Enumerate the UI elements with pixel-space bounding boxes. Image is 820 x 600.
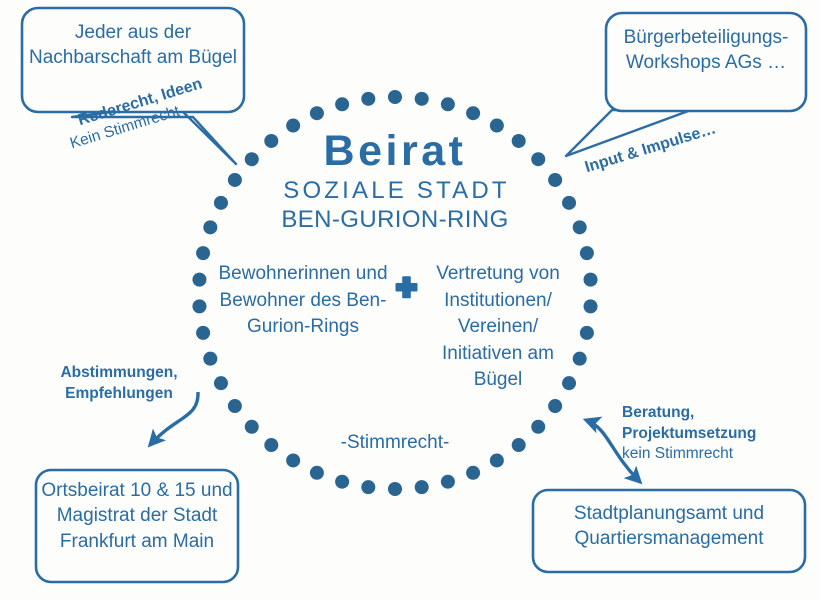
ring-dot xyxy=(214,376,228,390)
ring-dot xyxy=(531,420,545,434)
bubble-top-right-text: Bürgerbeteiligungs- Workshops AGs … xyxy=(610,25,802,76)
ring-dot xyxy=(286,453,300,467)
page-title: Beirat xyxy=(0,125,790,177)
ring-dot xyxy=(245,420,259,434)
label-beratung-line3: kein Stimmrecht xyxy=(622,444,792,465)
label-beratung-line1: Beratung, xyxy=(622,403,792,424)
ring-dot xyxy=(490,453,504,467)
ring-dot xyxy=(361,92,375,106)
ring-dot xyxy=(573,352,587,366)
ring-dot xyxy=(580,246,594,260)
ring-footer-stimmrecht: -Stimmrecht- xyxy=(300,431,490,454)
ring-dot xyxy=(584,299,598,313)
box-bottom-left-text: Ortsbeirat 10 & 15 und Magistrat der Sta… xyxy=(40,478,234,554)
ring-dot xyxy=(310,466,324,480)
ring-dot xyxy=(192,273,206,287)
ring-dot xyxy=(196,246,210,260)
ring-column-institutions: Vertretung von Institutionen/ Vereinen/ … xyxy=(422,261,574,394)
label-beratung-line2: Projektumsetzung xyxy=(622,424,792,445)
subtitle-soziale-stadt: SOZIALE STADT xyxy=(0,176,793,205)
ring-dot xyxy=(192,299,206,313)
ring-dot xyxy=(466,466,480,480)
ring-dot xyxy=(310,106,324,120)
label-abstimmungen-empfehlungen: Abstimmungen, Empfehlungen xyxy=(44,363,194,404)
ring-dot xyxy=(415,480,429,494)
diagram-canvas: Jeder aus der Nachbarschaft am Bügel Red… xyxy=(0,0,820,600)
box-bottom-right-text: Stadtplanungsamt und Quartiersmanagement xyxy=(537,501,801,552)
ring-dot xyxy=(228,399,242,413)
ring-dot xyxy=(584,273,598,287)
plus-icon xyxy=(396,276,418,298)
ring-dot xyxy=(361,480,375,494)
ring-dot xyxy=(196,326,210,340)
ring-dot xyxy=(335,475,349,489)
ring-dot xyxy=(388,90,402,104)
ring-dot xyxy=(548,399,562,413)
subtitle-ben-gurion-ring: BEN-GURION-RING xyxy=(0,205,790,234)
ring-dot xyxy=(335,97,349,111)
ring-dot xyxy=(580,326,594,340)
ring-dot xyxy=(415,92,429,106)
ring-dot xyxy=(512,438,526,452)
ring-column-residents: Bewohnerinnen und Bewohner des Ben-Gurio… xyxy=(215,261,391,341)
bubble-top-left-text: Jeder aus der Nachbarschaft am Bügel xyxy=(26,20,240,71)
ring-dot xyxy=(203,352,217,366)
ring-dot xyxy=(441,97,455,111)
ring-dot xyxy=(466,106,480,120)
ring-dot xyxy=(264,438,278,452)
label-beratung-projektumsetzung: Beratung, Projektumsetzung kein Stimmrec… xyxy=(622,403,792,465)
ring-dot xyxy=(388,482,402,496)
ring-dot xyxy=(441,475,455,489)
